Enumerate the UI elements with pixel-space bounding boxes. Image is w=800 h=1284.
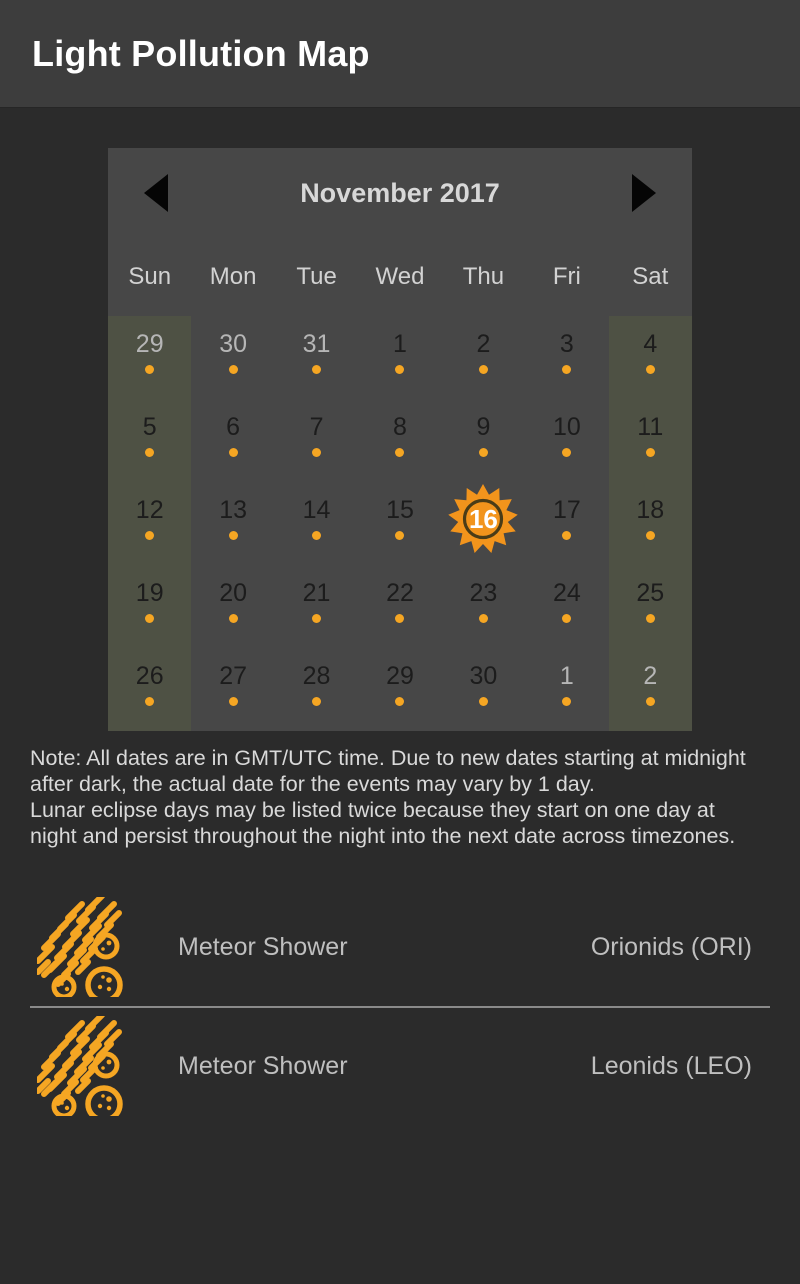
- calendar-day-number: 24: [553, 579, 581, 607]
- note-line: night and persist throughout the night i…: [30, 823, 770, 849]
- calendar-header: November 2017: [108, 148, 692, 238]
- event-dot: [312, 697, 321, 706]
- app-root: Light Pollution Map November 2017 Sun Mo…: [0, 0, 800, 1284]
- calendar-day-number: 14: [303, 496, 331, 524]
- calendar-day-number: 29: [136, 330, 164, 358]
- prev-month-arrow-icon[interactable]: [140, 172, 174, 214]
- calendar-panel: November 2017 Sun Mon Tue Wed Thu Fri Sa…: [108, 148, 692, 731]
- calendar-day-15[interactable]: 15: [358, 482, 441, 565]
- calendar-day-2[interactable]: 2: [442, 316, 525, 399]
- event-dot: [229, 448, 238, 457]
- calendar-day-25[interactable]: 25: [609, 565, 692, 648]
- calendar-day-31-outside[interactable]: 31: [275, 316, 358, 399]
- event-dot: [395, 697, 404, 706]
- event-dot: [562, 365, 571, 374]
- calendar-day-16[interactable]: 1616: [442, 482, 525, 565]
- event-dot: [229, 614, 238, 623]
- calendar-day-26[interactable]: 26: [108, 648, 191, 731]
- event-dot: [229, 365, 238, 374]
- weekday-sat: Sat: [609, 263, 692, 291]
- event-dot: [562, 448, 571, 457]
- calendar-day-number: 28: [303, 662, 331, 690]
- event-dot: [646, 614, 655, 623]
- calendar-day-11[interactable]: 11: [609, 399, 692, 482]
- calendar-day-30-outside[interactable]: 30: [191, 316, 274, 399]
- calendar-day-number: 25: [636, 579, 664, 607]
- calendar-day-number: 30: [219, 330, 247, 358]
- event-dot: [479, 365, 488, 374]
- calendar-day-number: 4: [643, 330, 657, 358]
- calendar-day-29-outside[interactable]: 29: [108, 316, 191, 399]
- event-dot: [395, 448, 404, 457]
- weekday-wed: Wed: [358, 263, 441, 291]
- calendar-day-7[interactable]: 7: [275, 399, 358, 482]
- calendar-day-number: 29: [386, 662, 414, 690]
- event-dot: [145, 365, 154, 374]
- calendar-day-number: 13: [219, 496, 247, 524]
- calendar-day-6[interactable]: 6: [191, 399, 274, 482]
- calendar-day-number: 8: [393, 413, 407, 441]
- calendar-day-number: 3: [560, 330, 574, 358]
- calendar-day-1-outside[interactable]: 1: [525, 648, 608, 731]
- calendar-day-number: 17: [553, 496, 581, 524]
- selected-day-sun-icon[interactable]: 16: [447, 483, 519, 555]
- calendar-day-9[interactable]: 9: [442, 399, 525, 482]
- calendar-day-number: 22: [386, 579, 414, 607]
- event-dot: [312, 365, 321, 374]
- calendar-day-number: 12: [136, 496, 164, 524]
- calendar-month-label: November 2017: [300, 178, 500, 209]
- calendar-day-number: 21: [303, 579, 331, 607]
- selected-day-number: 16: [469, 506, 498, 532]
- calendar-day-number: 1: [393, 330, 407, 358]
- calendar-weeks: 2930311234567891011121314151616171819202…: [108, 316, 692, 731]
- calendar-day-number: 2: [476, 330, 490, 358]
- calendar-day-24[interactable]: 24: [525, 565, 608, 648]
- calendar-day-12[interactable]: 12: [108, 482, 191, 565]
- event-dot: [312, 614, 321, 623]
- event-dot: [229, 697, 238, 706]
- app-header: Light Pollution Map: [0, 0, 800, 108]
- calendar-day-21[interactable]: 21: [275, 565, 358, 648]
- calendar-weekday-header: Sun Mon Tue Wed Thu Fri Sat: [108, 238, 692, 316]
- note-line: Note: All dates are in GMT/UTC time. Due…: [30, 745, 770, 771]
- weekday-tue: Tue: [275, 263, 358, 291]
- calendar-note: Note: All dates are in GMT/UTC time. Due…: [30, 745, 770, 849]
- weekday-thu: Thu: [442, 263, 525, 291]
- calendar-day-number: 6: [226, 413, 240, 441]
- calendar-day-number: 27: [219, 662, 247, 690]
- event-row[interactable]: Meteor ShowerLeonids (LEO): [30, 1006, 770, 1124]
- weekday-sun: Sun: [108, 263, 191, 291]
- event-dot: [395, 365, 404, 374]
- meteor-shower-icon: [30, 1016, 148, 1116]
- event-dot: [312, 531, 321, 540]
- event-name-label: Leonids (LEO): [591, 1052, 752, 1081]
- event-dot: [646, 531, 655, 540]
- calendar-day-18[interactable]: 18: [609, 482, 692, 565]
- event-dot: [562, 614, 571, 623]
- calendar-day-22[interactable]: 22: [358, 565, 441, 648]
- event-dot: [229, 531, 238, 540]
- calendar-day-number: 20: [219, 579, 247, 607]
- page-title: Light Pollution Map: [32, 33, 370, 75]
- event-dot: [562, 531, 571, 540]
- calendar-day-8[interactable]: 8: [358, 399, 441, 482]
- event-dot: [312, 448, 321, 457]
- calendar-day-23[interactable]: 23: [442, 565, 525, 648]
- calendar-day-grid: 2930311234567891011121314151616171819202…: [108, 316, 692, 731]
- calendar-day-17[interactable]: 17: [525, 482, 608, 565]
- calendar-day-number: 9: [476, 413, 490, 441]
- calendar-day-30[interactable]: 30: [442, 648, 525, 731]
- event-dot: [646, 697, 655, 706]
- calendar-day-number: 10: [553, 413, 581, 441]
- calendar-day-10[interactable]: 10: [525, 399, 608, 482]
- calendar-day-19[interactable]: 19: [108, 565, 191, 648]
- next-month-arrow-icon[interactable]: [626, 172, 660, 214]
- note-line: after dark, the actual date for the even…: [30, 771, 770, 797]
- calendar-day-13[interactable]: 13: [191, 482, 274, 565]
- event-dot: [145, 697, 154, 706]
- calendar-day-number: 7: [310, 413, 324, 441]
- event-dot: [395, 531, 404, 540]
- event-type-label: Meteor Shower: [178, 933, 348, 962]
- calendar-day-3[interactable]: 3: [525, 316, 608, 399]
- event-dot: [479, 697, 488, 706]
- weekday-fri: Fri: [525, 263, 608, 291]
- event-dot: [145, 531, 154, 540]
- event-dot: [145, 448, 154, 457]
- calendar-day-29[interactable]: 29: [358, 648, 441, 731]
- calendar-day-number: 15: [386, 496, 414, 524]
- event-list: Meteor ShowerOrionids (ORI)Meteor Shower…: [30, 888, 770, 1124]
- note-line: Lunar eclipse days may be listed twice b…: [30, 797, 770, 823]
- calendar-day-4[interactable]: 4: [609, 316, 692, 399]
- event-name-label: Orionids (ORI): [591, 933, 752, 962]
- calendar-day-2-outside[interactable]: 2: [609, 648, 692, 731]
- event-type-label: Meteor Shower: [178, 1052, 348, 1081]
- calendar-day-number: 31: [303, 330, 331, 358]
- event-dot: [395, 614, 404, 623]
- calendar-day-number: 1: [560, 662, 574, 690]
- event-dot: [145, 614, 154, 623]
- calendar-day-number: 2: [643, 662, 657, 690]
- event-dot: [479, 614, 488, 623]
- calendar-day-28[interactable]: 28: [275, 648, 358, 731]
- calendar-day-number: 30: [470, 662, 498, 690]
- calendar-day-number: 11: [637, 413, 663, 441]
- calendar-day-number: 26: [136, 662, 164, 690]
- event-dot: [646, 365, 655, 374]
- calendar-day-number: 5: [143, 413, 157, 441]
- calendar-day-number: 23: [470, 579, 498, 607]
- event-dot: [646, 448, 655, 457]
- event-dot: [562, 697, 571, 706]
- weekday-mon: Mon: [191, 263, 274, 291]
- calendar-day-14[interactable]: 14: [275, 482, 358, 565]
- calendar-day-20[interactable]: 20: [191, 565, 274, 648]
- calendar-day-number: 18: [636, 496, 664, 524]
- meteor-shower-icon: [30, 897, 148, 997]
- calendar-day-1[interactable]: 1: [358, 316, 441, 399]
- calendar-day-27[interactable]: 27: [191, 648, 274, 731]
- calendar-day-5[interactable]: 5: [108, 399, 191, 482]
- event-row[interactable]: Meteor ShowerOrionids (ORI): [30, 888, 770, 1006]
- calendar-day-number: 19: [136, 579, 164, 607]
- event-dot: [479, 448, 488, 457]
